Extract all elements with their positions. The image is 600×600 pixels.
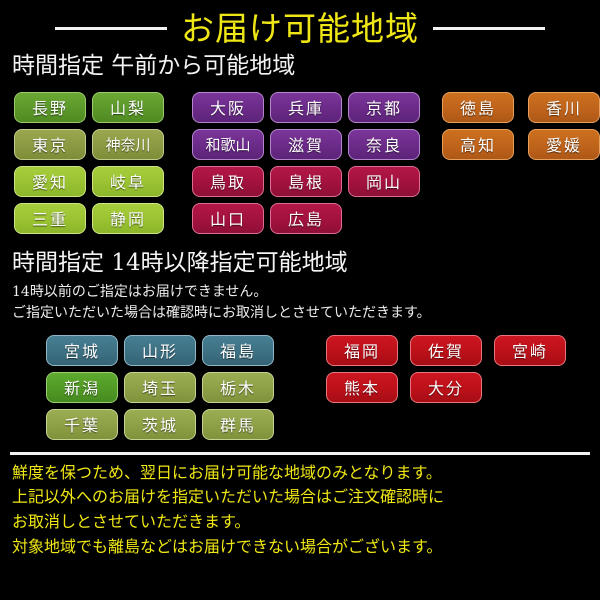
section-note-1: 14時以前のご指定はお届けできません。 — [0, 282, 600, 303]
region-tag[interactable]: 広島 — [270, 203, 342, 234]
region-tag[interactable]: 島根 — [270, 166, 342, 197]
region-tag[interactable]: 徳島 — [442, 92, 514, 123]
tag-row: 三重 静岡 山口 広島 — [0, 200, 600, 237]
title-rule-right — [433, 27, 545, 30]
region-tag[interactable]: 栃木 — [202, 372, 274, 403]
region-tag[interactable]: 福岡 — [326, 335, 398, 366]
region-tag[interactable]: 大阪 — [192, 92, 264, 123]
region-tag[interactable]: 奈良 — [348, 129, 420, 160]
region-tag[interactable]: 千葉 — [46, 409, 118, 440]
region-tag[interactable]: 京都 — [348, 92, 420, 123]
region-tag[interactable]: 宮崎 — [494, 335, 566, 366]
footer-line: 対象地域でも離島などはお届けできない場合がございます。 — [0, 535, 600, 560]
region-tag[interactable]: 山口 — [192, 203, 264, 234]
footer-line: お取消しとさせていただきます。 — [0, 510, 600, 535]
region-tag[interactable]: 岡山 — [348, 166, 420, 197]
region-tag[interactable]: 静岡 — [92, 203, 164, 234]
section-note-2: ご指定いただいた場合は確認時にお取消しとさせていただきます。 — [0, 303, 600, 324]
region-tag[interactable]: 滋賀 — [270, 129, 342, 160]
region-tag[interactable]: 埼玉 — [124, 372, 196, 403]
tag-row: 千葉 茨城 群馬 — [0, 406, 600, 443]
region-tag[interactable]: 神奈川 — [92, 129, 164, 160]
section-heading-morning: 時間指定 午前から可能地域 — [0, 52, 600, 81]
footer-divider — [10, 452, 590, 455]
region-tag[interactable]: 岐阜 — [92, 166, 164, 197]
tag-row: 新潟 埼玉 栃木 熊本 大分 — [0, 369, 600, 406]
title-rule-left — [55, 27, 167, 30]
region-tag[interactable]: 新潟 — [46, 372, 118, 403]
tag-row: 東京 神奈川 和歌山 滋賀 奈良 高知 愛媛 — [0, 126, 600, 163]
region-tag[interactable]: 群馬 — [202, 409, 274, 440]
region-tag[interactable]: 愛知 — [14, 166, 86, 197]
page-title-row: お届け可能地域 — [0, 0, 600, 52]
page-title: お届け可能地域 — [167, 12, 433, 45]
region-tag[interactable]: 佐賀 — [410, 335, 482, 366]
region-tag[interactable]: 大分 — [410, 372, 482, 403]
footer-line: 鮮度を保つため、翌日にお届け可能な地域のみとなります。 — [0, 461, 600, 486]
region-tag[interactable]: 山梨 — [92, 92, 164, 123]
region-tag[interactable]: 和歌山 — [192, 129, 264, 160]
region-tag[interactable]: 福島 — [202, 335, 274, 366]
tag-row: 愛知 岐阜 鳥取 島根 岡山 — [0, 163, 600, 200]
section-morning: 時間指定 午前から可能地域 長野 山梨 大阪 兵庫 京都 徳島 香川 東京 神奈… — [0, 52, 600, 237]
footer-line: 上記以外へのお届けを指定いただいた場合はご注文確認時に — [0, 485, 600, 510]
tag-row: 宮城 山形 福島 福岡 佐賀 宮崎 — [0, 332, 600, 369]
region-tag[interactable]: 熊本 — [326, 372, 398, 403]
tag-grid-afternoon: 宮城 山形 福島 福岡 佐賀 宮崎 新潟 埼玉 栃木 熊本 大分 千葉 茨城 群… — [0, 332, 600, 443]
delivery-area-infographic: お届け可能地域 時間指定 午前から可能地域 長野 山梨 大阪 兵庫 京都 徳島 … — [0, 0, 600, 600]
region-tag[interactable]: 山形 — [124, 335, 196, 366]
tag-row: 長野 山梨 大阪 兵庫 京都 徳島 香川 — [0, 89, 600, 126]
region-tag[interactable]: 長野 — [14, 92, 86, 123]
region-tag[interactable]: 茨城 — [124, 409, 196, 440]
region-tag[interactable]: 東京 — [14, 129, 86, 160]
tag-grid-morning: 長野 山梨 大阪 兵庫 京都 徳島 香川 東京 神奈川 和歌山 滋賀 奈良 高知… — [0, 89, 600, 237]
region-tag[interactable]: 宮城 — [46, 335, 118, 366]
section-heading-afternoon: 時間指定 14時以降指定可能地域 — [0, 249, 600, 278]
region-tag[interactable]: 愛媛 — [528, 129, 600, 160]
region-tag[interactable]: 鳥取 — [192, 166, 264, 197]
footer: 鮮度を保つため、翌日にお届け可能な地域のみとなります。 上記以外へのお届けを指定… — [0, 452, 600, 560]
region-tag[interactable]: 兵庫 — [270, 92, 342, 123]
region-tag[interactable]: 三重 — [14, 203, 86, 234]
region-tag[interactable]: 香川 — [528, 92, 600, 123]
region-tag[interactable]: 高知 — [442, 129, 514, 160]
section-afternoon: 時間指定 14時以降指定可能地域 14時以前のご指定はお届けできません。 ご指定… — [0, 249, 600, 443]
